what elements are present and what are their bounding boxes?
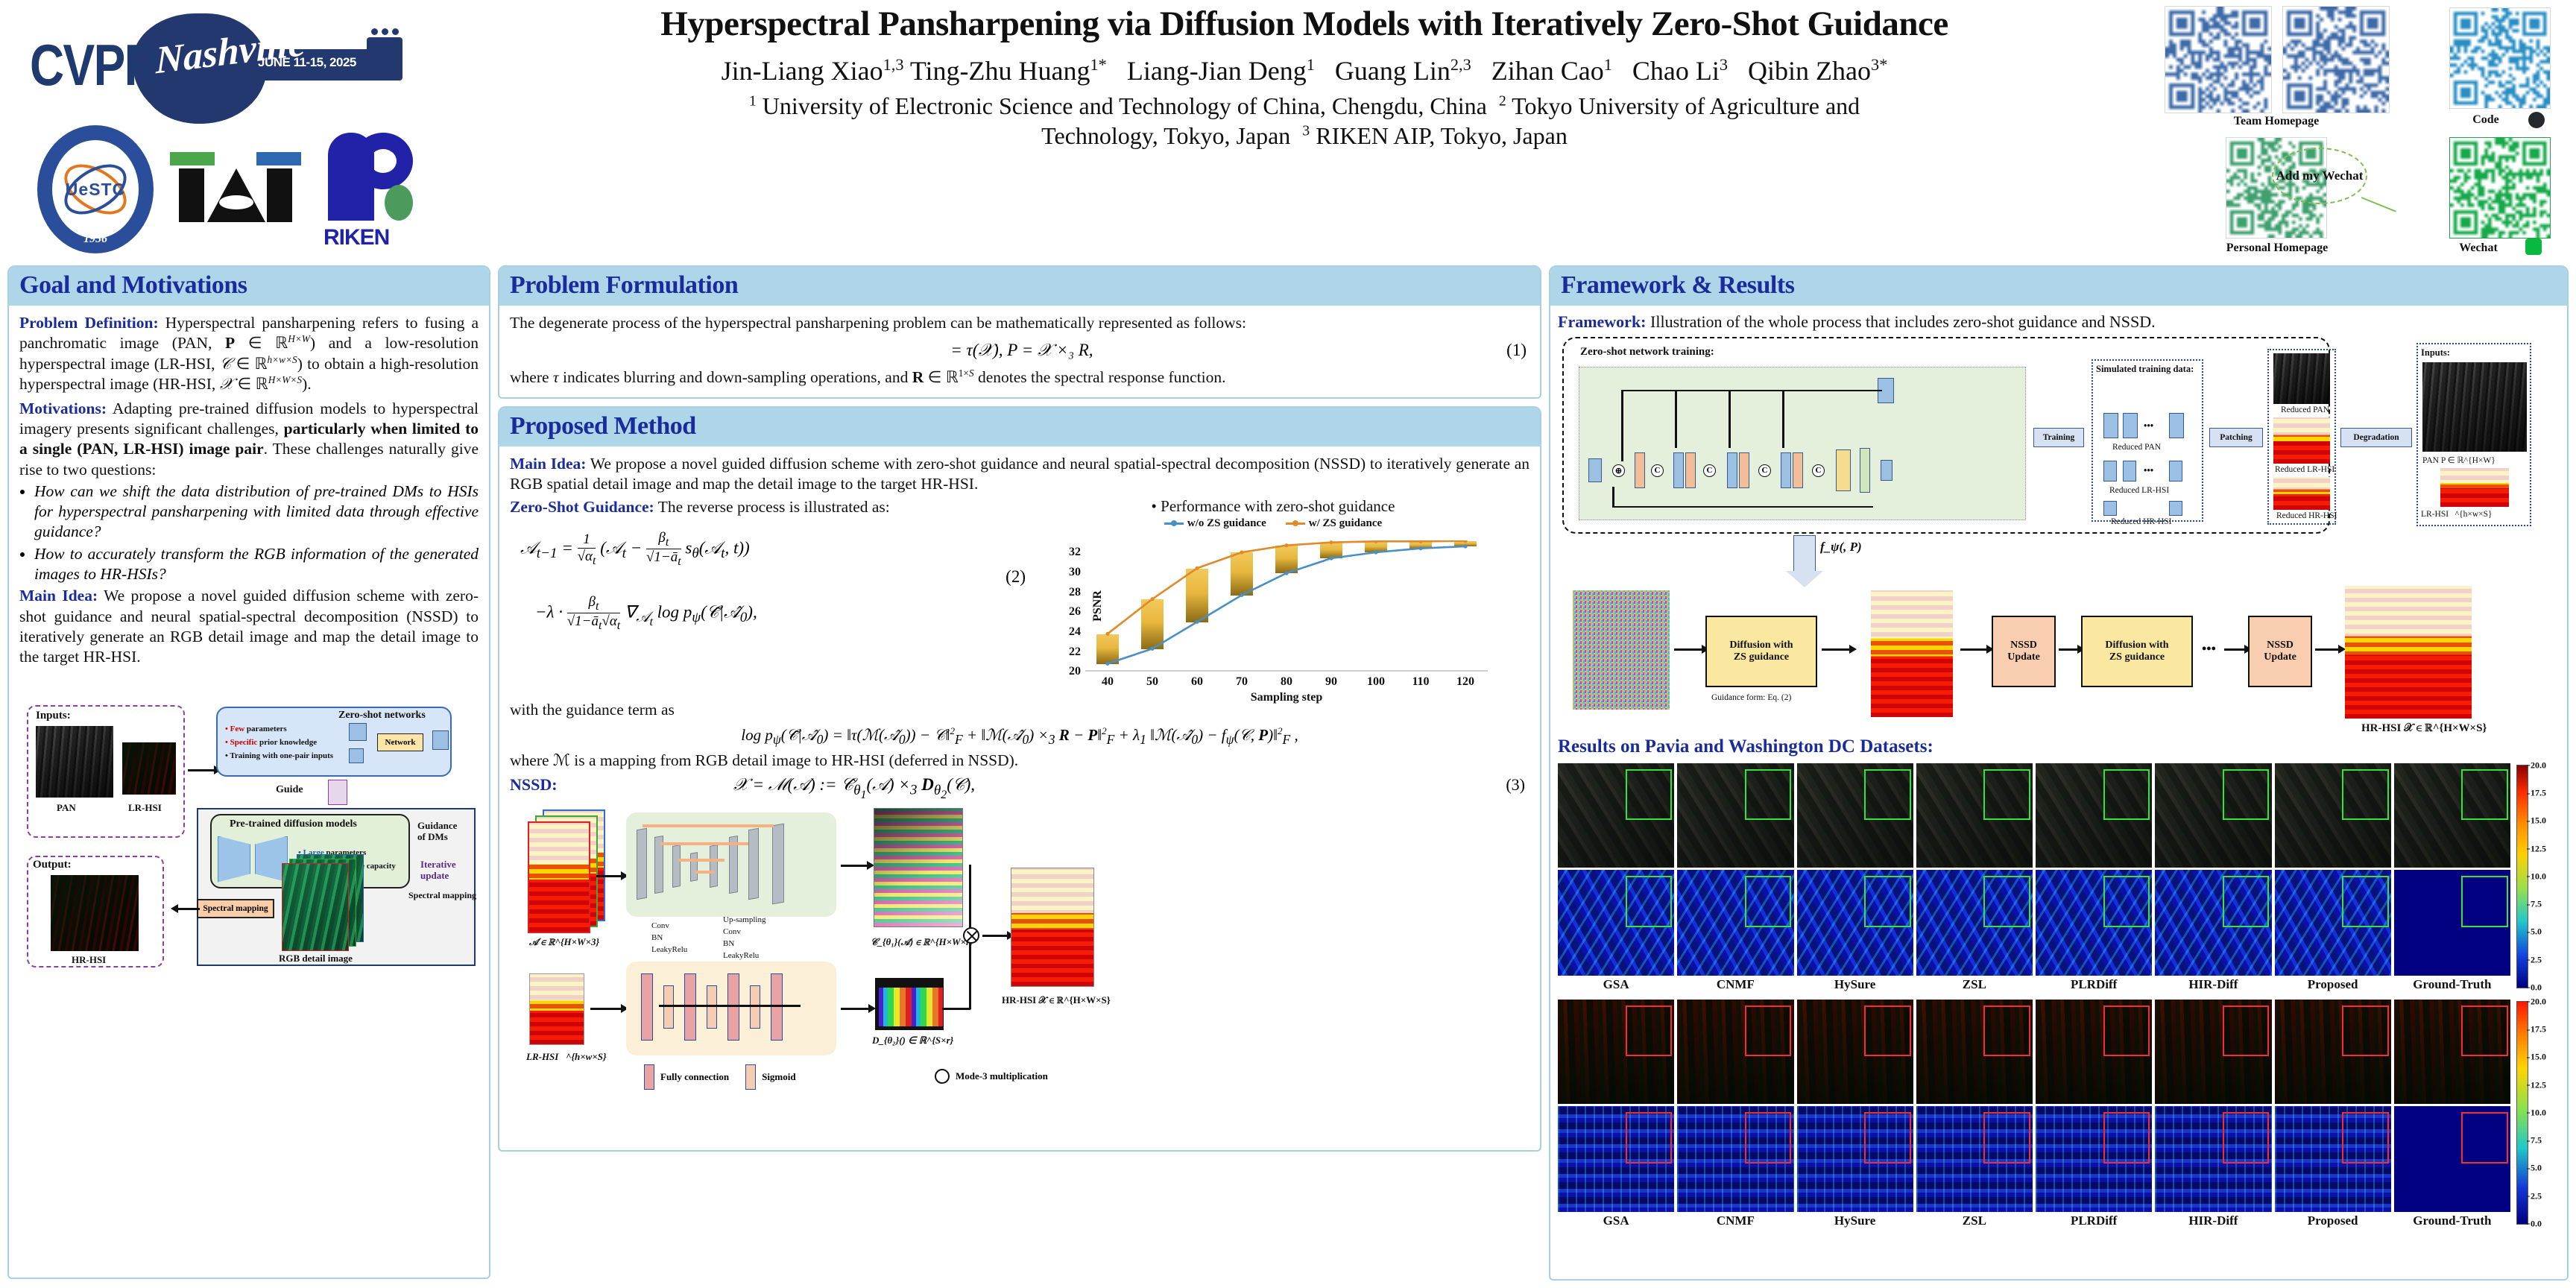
cvpr-logo: CVPR Nashville JUNE 11-15, 2025 <box>30 10 432 122</box>
column-middle: Problem Formulation The degenerate proce… <box>498 265 1541 1159</box>
result-label-cell: GSA <box>1558 1212 1674 1228</box>
zs-network-green-area: ⊕ C C C C <box>1579 367 2026 520</box>
method-label: Ground-Truth <box>2394 1213 2510 1228</box>
spectra-plot-image <box>875 978 944 1030</box>
method-label: Proposed <box>2275 977 2391 992</box>
pavia-error-row <box>1558 870 2510 976</box>
pm-main-idea-label: Main Idea: <box>510 455 586 473</box>
result-cell <box>2036 870 2152 976</box>
roi-green-box <box>2342 769 2389 819</box>
roi-red-box <box>1864 1112 1911 1163</box>
result-cell <box>2155 763 2271 868</box>
reduced-hrhsi-label-1: Reduced HR-HSI <box>2111 517 2171 526</box>
pipeline-ellipsis: ••• <box>2202 641 2216 657</box>
method-label: HIR-Diff <box>2155 1213 2271 1228</box>
chart-xtick: 60 <box>1191 675 1203 689</box>
add-wechat-bubble: Add my Wechat <box>2272 148 2367 204</box>
result-image <box>1916 1106 2033 1212</box>
legend-label: w/ ZS guidance <box>1309 517 1382 530</box>
problem-formulation-heading: Problem Formulation <box>499 267 1540 306</box>
team-homepage-qr[interactable] <box>2165 6 2272 113</box>
colorbar-tick: 10.0 <box>2531 1107 2546 1118</box>
equation-1: 𝒨 = τ(𝒳), P = 𝒳 ×₃ R, (1) <box>510 341 1529 360</box>
question-item: How can we shift the data distribution o… <box>34 482 479 543</box>
chart-xtick: 120 <box>1456 675 1474 689</box>
result-label-cell: ZSL <box>1916 1212 2033 1228</box>
colorbar-tick: 12.5 <box>2531 843 2546 854</box>
main-idea-label: Main Idea: <box>19 587 98 604</box>
wechat-icon <box>2525 239 2542 255</box>
diffusion-to-image-arrow <box>1822 648 1850 651</box>
result-cell <box>2394 1000 2510 1104</box>
github-icon <box>2528 112 2545 128</box>
method-label: HIR-Diff <box>2155 977 2271 992</box>
hrhsi-output-caption: HR-HSI 𝒳 ∈ ℝ^{H×W×S} <box>1002 994 1111 1006</box>
cnn-to-c-arrow <box>841 865 868 867</box>
rgb-detail-layer-front <box>282 863 349 951</box>
reduced-lrhsi-label-1: Reduced LR-HSI <box>2109 486 2169 495</box>
result-image <box>1677 870 1793 976</box>
pavia-colorbar: 20.017.515.012.510.07.55.02.50.0 <box>2516 765 2528 988</box>
input-a-caption: 𝒜 ∈ ℝ^{H×W×3} <box>529 936 599 948</box>
result-image <box>2275 1000 2391 1104</box>
result-cell <box>1677 763 1793 868</box>
colorbar-tick: 2.5 <box>2531 954 2542 965</box>
ellipsis-to-nssd-arrow <box>2224 648 2245 651</box>
goal-and-motivations-panel: Goal and Motivations Problem Definition:… <box>7 265 490 1279</box>
result-image <box>2394 1106 2510 1212</box>
pm-zeroshot-label: Zero-Shot Guidance: <box>510 498 654 516</box>
nssd-to-output-arrow <box>2315 648 2339 651</box>
guidance-of-dms-label: Guidanceof DMs <box>417 820 457 843</box>
chart-xtick: 110 <box>1412 675 1429 689</box>
roi-green-box <box>1864 769 1911 819</box>
motivations-label: Motivations: <box>19 400 107 417</box>
guitar-headstock-shape <box>367 37 402 80</box>
colorbar-tick: 10.0 <box>2531 871 2546 882</box>
concat-icon: C <box>1812 464 1825 477</box>
mode3-mult-icon <box>963 927 979 944</box>
result-image <box>1797 763 1913 868</box>
result-cell <box>1677 870 1793 976</box>
pan-input-label: PAN P ∈ ℝ^{H×W} <box>2422 455 2495 465</box>
result-image <box>2394 763 2510 868</box>
equation-3-number: (3) <box>1506 775 1525 795</box>
author-list: Jin-Liang Xiao1,3 Ting-Zhu Huang1* Liang… <box>447 54 2162 88</box>
institution-logos: UeSTC 1956 RIKEN <box>21 121 453 255</box>
zs-input-block2 <box>349 748 364 763</box>
inputs-label: Inputs: <box>36 710 71 722</box>
pavia-colorbar-wrap: 20.017.515.012.510.07.55.02.50.0 <box>2516 763 2560 992</box>
roi-red-box <box>2223 1112 2270 1163</box>
rgb-detail-caption: RGB detail image <box>279 953 353 965</box>
roi-red-box <box>2342 1006 2389 1055</box>
result-image <box>2155 1106 2271 1212</box>
reduced-pan-label-1: Reduced PAN <box>2112 443 2161 452</box>
roi-green-box <box>2342 876 2389 926</box>
uestc-logo: UeSTC 1956 <box>37 125 154 253</box>
conv-legend-2: BN <box>651 933 663 942</box>
colorbar-tick: 12.5 <box>2531 1079 2546 1090</box>
roi-red-box <box>2223 1006 2270 1055</box>
spectral-mapping-arrow <box>177 908 200 910</box>
method-label: GSA <box>1558 1213 1674 1228</box>
result-image <box>2155 870 2271 976</box>
result-label-cell: ZSL <box>1916 976 2033 992</box>
guitar-tuner-icon <box>371 28 378 35</box>
concat-icon: C <box>1703 464 1716 477</box>
up-legend-1: Up-sampling <box>723 915 765 924</box>
conference-dates: JUNE 11-15, 2025 <box>258 55 356 70</box>
hrhsi-output-image-nssd <box>1011 868 1094 987</box>
pan-image <box>36 726 113 798</box>
degradation-arrow: Degradation <box>2340 428 2412 447</box>
roi-green-box <box>1626 876 1673 926</box>
chart-legend: w/o ZS guidance w/ ZS guidance <box>1042 517 1504 530</box>
result-cell <box>2036 1000 2152 1104</box>
result-image <box>1677 1106 1793 1212</box>
roi-red-box <box>1626 1006 1673 1055</box>
output-label: Output: <box>33 859 72 871</box>
result-label-cell: CNMF <box>1677 976 1793 992</box>
roi-green-box <box>2223 769 2270 819</box>
main-idea-text: Main Idea: We propose a novel guided dif… <box>19 586 479 667</box>
guide-label: Guide <box>276 784 303 796</box>
result-cell <box>1797 763 1913 868</box>
result-cell <box>2155 1000 2271 1104</box>
colorbar-tick: 0.0 <box>2531 982 2542 993</box>
result-image <box>2275 1106 2391 1212</box>
roi-red-box <box>1983 1112 2030 1163</box>
problem-formulation-panel: Problem Formulation The degenerate proce… <box>498 265 1541 399</box>
input-a-layer-front <box>528 821 590 933</box>
result-cell <box>1916 1000 2033 1104</box>
roi-green-box <box>2103 876 2150 926</box>
title-zone: Hyperspectral Pansharpening via Diffusio… <box>447 4 2162 151</box>
nssd-update-block-2: NSSD Update <box>2248 616 2312 687</box>
reduced-pan-label-2: Reduced PAN <box>2281 405 2329 414</box>
guitar-tuner-icon <box>392 28 399 35</box>
performance-chart: • Performance with zero-shot guidance w/… <box>1042 497 1504 698</box>
motivation-figure: Inputs: PAN LR-HSI Zero-shot networks • … <box>19 671 479 969</box>
method-label: GSA <box>1558 977 1674 992</box>
concat-icon: C <box>1758 464 1771 477</box>
result-label-cell: PLRDiff <box>2036 1212 2152 1228</box>
goal-heading: Goal and Motivations <box>9 267 489 306</box>
diffusion-zs-block-1: Diffusion with ZS guidance <box>1705 616 1817 687</box>
result-image <box>1797 1106 1913 1212</box>
sigmoid-legend-label: Sigmoid <box>762 1071 796 1083</box>
roi-red-box <box>2461 1006 2508 1055</box>
method-label: CNMF <box>1677 977 1793 992</box>
roi-green-box <box>1745 769 1792 819</box>
results-block-pavia: GSACNMFHySureZSLPLRDiffHIR-DiffProposedG… <box>1558 763 2560 992</box>
result-cell <box>1797 1106 1913 1212</box>
zero-shot-title: Zero-shot networks <box>338 710 426 722</box>
fpsi-arrow <box>1793 535 1816 574</box>
intermediate-image-1 <box>1871 590 1953 717</box>
ctheta1-output-image <box>874 808 963 927</box>
iterative-update-label: Iterativeupdate <box>420 859 456 882</box>
problem-definition-label: Problem Definition: <box>19 314 159 332</box>
legend-label: w/o ZS guidance <box>1187 517 1266 530</box>
nssd-update-block-1: NSSD Update <box>1992 616 2056 687</box>
fpsi-label: f_ψ(𝒨, P) <box>1820 540 1862 555</box>
result-cell <box>1797 1000 1913 1104</box>
question-item: How to accurately transform the RGB info… <box>34 544 479 585</box>
motivations-bold: particularly when limited to a single (P… <box>19 420 479 458</box>
affiliations: 1 University of Electronic Science and T… <box>447 91 2162 151</box>
method-label: Ground-Truth <box>2394 977 2510 992</box>
result-cell <box>2275 763 2391 868</box>
result-image <box>2036 870 2152 976</box>
code-label: Code <box>2445 113 2527 127</box>
nssd-label: NSSD: <box>510 775 558 794</box>
roi-green-box <box>2461 769 2508 819</box>
result-label-cell: HIR-Diff <box>2155 976 2271 992</box>
qr-code-zone: Team Homepage Code Personal Homepage Wec… <box>2162 1 2576 255</box>
chart-xtick: 80 <box>1281 675 1292 689</box>
colorbar-tick: 15.0 <box>2531 1052 2546 1063</box>
lrhsi-input-caption: LR-HSI 𝒨 ∈ ℝ^{h×w×S} <box>526 1051 607 1063</box>
lrhsi-caption: LR-HSI <box>128 802 162 814</box>
hrhsi-caption: HR-HSI <box>72 954 106 966</box>
result-image <box>1916 763 2033 868</box>
chart-ytick: 26 <box>1069 605 1081 619</box>
framework-and-results-panel: Framework & Results Framework: Illustrat… <box>1549 265 2569 1281</box>
chart-xtick: 70 <box>1236 675 1248 689</box>
lrhsi-to-fc-arrow <box>590 1008 622 1010</box>
nssd-legend: Fully connection Sigmoid <box>644 1064 796 1090</box>
proposed-method-heading: Proposed Method <box>499 408 1540 446</box>
colorbar-tick: 0.0 <box>2531 1218 2542 1229</box>
method-label: HySure <box>1797 1213 1913 1228</box>
team-homepage-qr-alt[interactable] <box>2282 6 2390 113</box>
chart-ytick: 24 <box>1069 625 1081 639</box>
result-image <box>2394 870 2510 976</box>
result-cell <box>2394 870 2510 976</box>
concat-icon: C <box>1651 464 1664 477</box>
zs-input-block <box>349 723 367 741</box>
result-label-cell: Ground-Truth <box>2394 976 2510 992</box>
chart-series-svg <box>1085 540 1488 672</box>
result-cell <box>1558 870 1674 976</box>
training-arrow: Training <box>2033 428 2084 447</box>
research-questions: How can we shift the data distribution o… <box>34 482 479 584</box>
method-label: CNMF <box>1677 1213 1793 1228</box>
zs-bullet-2: • Specific prior knowledge <box>225 738 317 747</box>
colorbar-tick: 5.0 <box>2531 926 2542 938</box>
method-label: ZSL <box>1916 1213 2033 1228</box>
pan-input-image <box>2422 362 2527 452</box>
result-label-cell: HIR-Diff <box>2155 1212 2271 1228</box>
a-to-cnn-arrow <box>596 875 622 877</box>
legend-item-w-zs: w/ ZS guidance <box>1286 517 1382 530</box>
result-cell <box>1558 1000 1674 1104</box>
roi-green-box <box>2461 876 2508 926</box>
sigmoid-legend-swatch <box>745 1064 756 1090</box>
result-label-cell: HySure <box>1797 1212 1913 1228</box>
wechat-label: Wechat <box>2437 241 2519 255</box>
legend-swatch <box>1164 523 1184 525</box>
result-image <box>1916 1000 2033 1104</box>
zero-shot-networks-box: Zero-shot networks • Few parameters • Sp… <box>216 707 452 777</box>
riken-wordmark: RIKEN <box>323 225 389 250</box>
pretrained-title: Pre-trained diffusion models <box>230 818 357 830</box>
pm-zeroshot: Zero-Shot Guidance: The reverse process … <box>510 497 1032 517</box>
result-cell <box>1916 1106 2033 1212</box>
result-image <box>2036 1000 2152 1104</box>
chart-ytick: 32 <box>1069 546 1081 559</box>
add-wechat-text: Add my Wechat <box>2276 168 2364 183</box>
result-cell <box>2036 763 2152 868</box>
colorbar-tick: 7.5 <box>2531 899 2542 910</box>
reduced-lrhsi-label-2: Reduced LR-HSI <box>2275 465 2334 474</box>
chart-ytick: 20 <box>1069 665 1081 678</box>
wdc-method-labels: GSACNMFHySureZSLPLRDiffHIR-DiffProposedG… <box>1558 1212 2510 1228</box>
result-image <box>1677 1000 1793 1104</box>
framework-intro: Framework: Illustration of the whole pro… <box>1558 312 2560 332</box>
result-cell <box>2275 870 2391 976</box>
proposed-method-panel: Proposed Method Main Idea: We propose a … <box>498 406 1541 1152</box>
zs-bullet-1: • Few parameters <box>225 724 287 733</box>
colorbar-tick: 17.5 <box>2531 788 2546 799</box>
framework-heading: Framework & Results <box>1550 267 2567 306</box>
hrhsi-output-label-fw: HR-HSI 𝒳 ∈ ℝ^{H×W×S} <box>2361 722 2487 735</box>
result-label-cell: CNMF <box>1677 1212 1793 1228</box>
roi-green-box <box>2223 876 2270 926</box>
simulated-data-box <box>2092 359 2203 522</box>
reduced-pan-image <box>2273 353 2330 404</box>
pan-caption: PAN <box>57 802 76 814</box>
equation-2-line1: 𝒜t−1 = 1 √αt (𝒜t − βt √1−āt sθ(𝒜t, t)) <box>520 530 750 569</box>
colorbar-tick: 20.0 <box>2531 760 2546 771</box>
mode3-legend-icon <box>935 1069 950 1084</box>
mode3-legend: Mode-3 multiplication <box>935 1069 1048 1084</box>
wechat-qr[interactable] <box>2449 137 2551 239</box>
hrhsi-output-image <box>51 875 139 951</box>
chart-xtick: 50 <box>1146 675 1158 689</box>
pf-intro: The degenerate process of the hyperspect… <box>510 313 1529 333</box>
zs-output-block <box>432 730 449 750</box>
nssd-to-diffusion-arrow <box>2059 648 2078 651</box>
result-image <box>1916 870 2033 976</box>
equation-1-number: (1) <box>1506 341 1527 360</box>
chart-ytick: 22 <box>1069 645 1081 659</box>
chart-plot-area: PSNR Sampling step 202224262830324050607… <box>1085 540 1488 672</box>
legend-swatch <box>1286 523 1305 525</box>
code-qr[interactable] <box>2449 7 2551 109</box>
lrhsi-image <box>122 742 176 795</box>
uestc-wordmark: UeSTC <box>66 180 125 200</box>
roi-green-box <box>1983 769 2030 819</box>
pavia-method-labels: GSACNMFHySureZSLPLRDiffHIR-DiffProposedG… <box>1558 976 2510 992</box>
framework-diagram: Zero-shot network training: ⊕ C C C C <box>1558 332 2560 735</box>
roi-red-box <box>1626 1112 1673 1163</box>
spectral-mapping-right-label: Spectral mapping <box>408 890 476 901</box>
conv-legend-3: LeakyRelu <box>651 945 687 954</box>
mode3-legend-label: Mode-3 multiplication <box>956 1070 1048 1082</box>
result-cell <box>2275 1106 2391 1212</box>
problem-definition-text: Problem Definition: Hyperspectral pansha… <box>19 313 479 395</box>
chart-xlabel: Sampling step <box>1251 691 1322 704</box>
wdc-error-row <box>1558 1106 2510 1212</box>
result-image <box>2036 1106 2152 1212</box>
result-image <box>1558 1106 1674 1212</box>
dtheta2-caption: D_{θ₂}(𝒨) ∈ ℝ^{S×r} <box>872 1035 953 1046</box>
chart-xtick: 40 <box>1102 675 1114 689</box>
bubble-tail <box>2361 197 2396 212</box>
roi-green-box <box>1626 769 1673 819</box>
roi-green-box <box>1864 876 1911 926</box>
chart-ytick: 30 <box>1069 566 1081 579</box>
equation-2-number: (2) <box>1006 567 1026 587</box>
wdc-colorbar-wrap: 20.017.515.012.510.07.55.02.50.0 <box>2516 1000 2560 1228</box>
result-cell <box>1916 870 2033 976</box>
roi-green-box <box>2103 769 2150 819</box>
method-label: ZSL <box>1916 977 2033 992</box>
pf-note: where τ indicates blurring and down-samp… <box>510 367 1529 388</box>
ctheta1-caption: 𝒞_{θ₁}(𝒜) ∈ ℝ^{H×W×r} <box>871 936 973 948</box>
mult-to-output-arrow <box>982 935 1008 937</box>
result-label-cell: Ground-Truth <box>2394 1212 2510 1228</box>
fc-to-d-arrow <box>841 1008 869 1010</box>
tat-logo <box>168 152 303 227</box>
guitar-tuner-icon <box>382 28 388 35</box>
fc-legend-swatch <box>644 1064 654 1090</box>
colorbar-tick: 5.0 <box>2531 1163 2542 1174</box>
result-cell <box>2155 870 2271 976</box>
method-label: HySure <box>1797 977 1913 992</box>
result-image <box>2036 763 2152 868</box>
up-legend-4: LeakyRelu <box>723 951 759 960</box>
sim-data-title: Simulated training data: <box>2096 364 2194 375</box>
result-image <box>2394 1000 2510 1104</box>
network-block: Network <box>377 733 423 751</box>
result-label-cell: HySure <box>1797 976 1913 992</box>
roi-red-box <box>1745 1112 1792 1163</box>
result-cell <box>1558 1106 1674 1212</box>
patching-arrow: Patching <box>2209 428 2263 447</box>
guidance-note: where ℳ is a mapping from RGB detail ima… <box>510 751 1529 771</box>
roi-green-box <box>1983 876 2030 926</box>
reduced-lrhsi-image <box>2273 417 2330 464</box>
uestc-year: 1956 <box>37 233 154 246</box>
page-title: Hyperspectral Pansharpening via Diffusio… <box>447 4 2162 44</box>
riken-logo: RIKEN <box>319 131 431 250</box>
result-image <box>1558 1000 1674 1104</box>
column-left: Goal and Motivations Problem Definition:… <box>7 265 490 1287</box>
result-image <box>1677 763 1793 868</box>
chart-xtick: 100 <box>1367 675 1385 689</box>
zs-training-title: Zero-shot network training: <box>1580 346 1714 359</box>
up-legend-2: Conv <box>723 927 741 936</box>
wdc-rgb-row <box>1558 1000 2510 1104</box>
guide-arrow <box>328 780 347 805</box>
result-image <box>2275 763 2391 868</box>
method-label: PLRDiff <box>2036 1213 2152 1228</box>
roi-green-box <box>1745 876 1792 926</box>
roi-red-box <box>2103 1006 2150 1055</box>
addition-icon: ⊕ <box>1612 464 1625 477</box>
noise-input-image <box>1573 590 1670 710</box>
result-label-cell: PLRDiff <box>2036 976 2152 992</box>
result-cell <box>2036 1106 2152 1212</box>
roi-red-box <box>1745 1006 1792 1055</box>
motivations-text: Motivations: Adapting pre-trained diffus… <box>19 399 479 480</box>
lrhsi-input-image-fw <box>2440 468 2509 507</box>
chart-xtick: 90 <box>1325 675 1337 689</box>
